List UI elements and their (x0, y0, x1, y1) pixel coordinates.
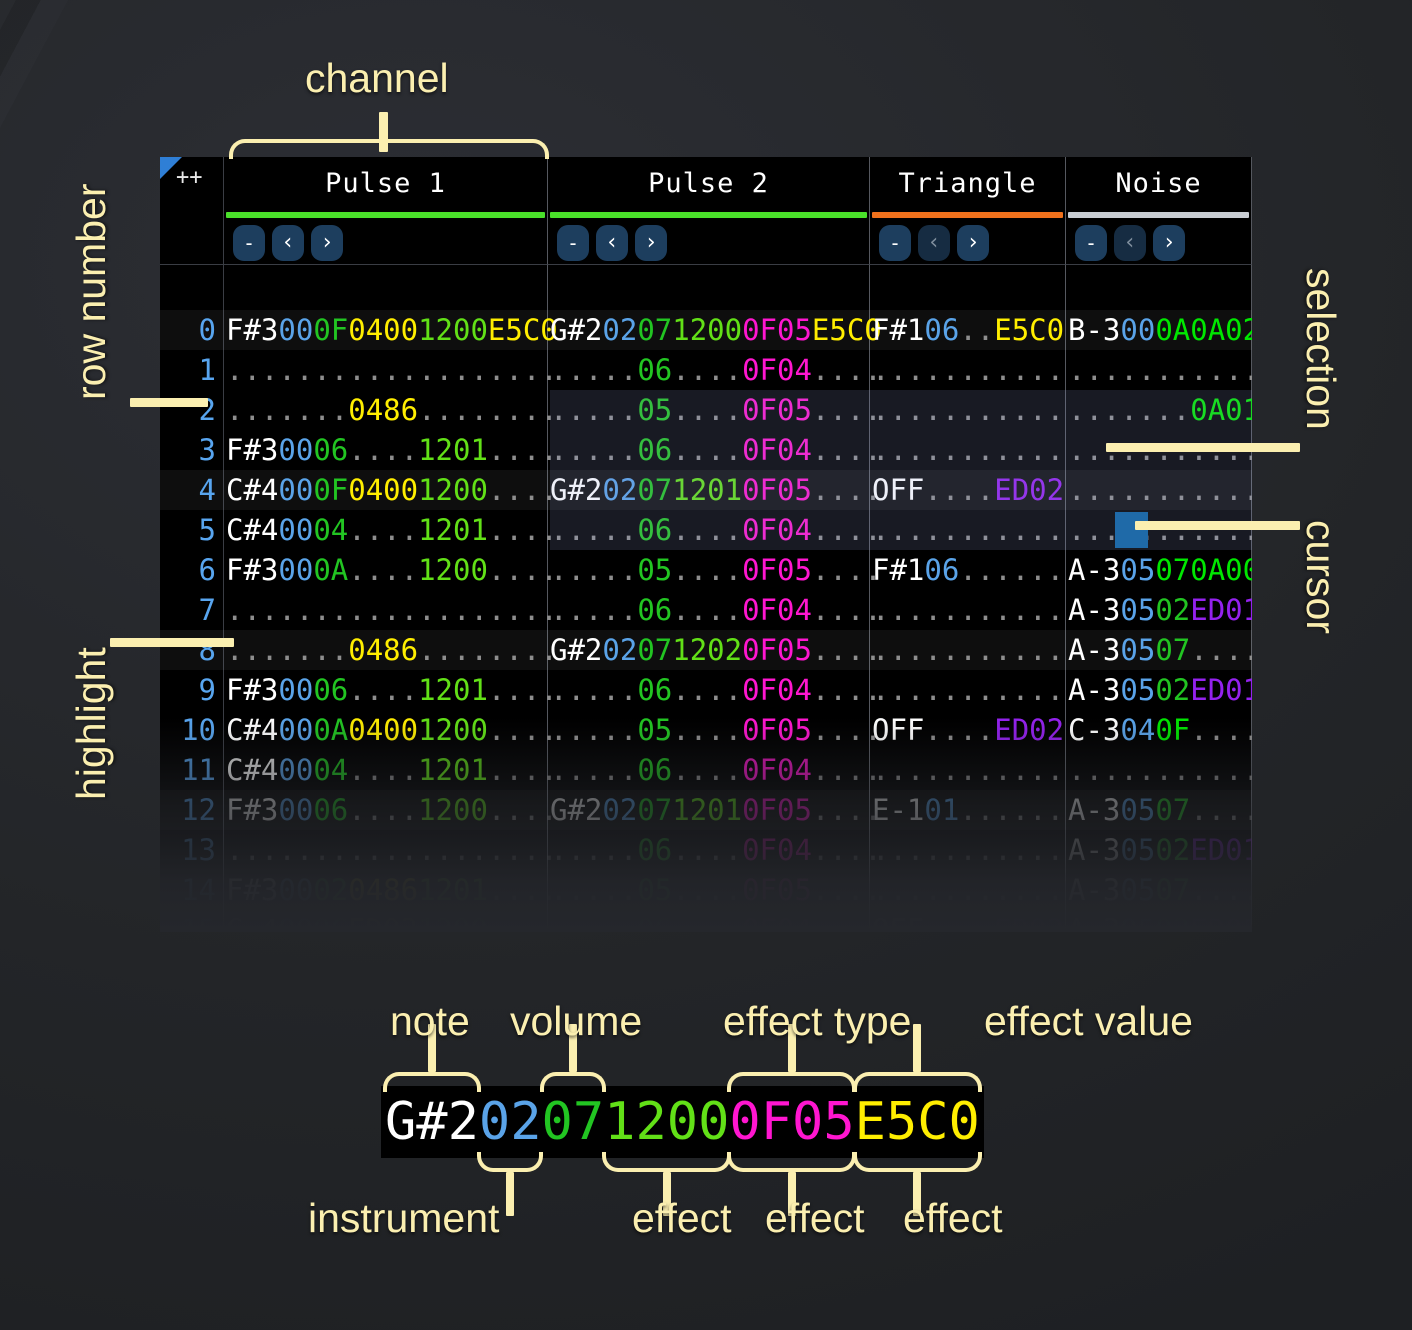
pattern-row[interactable]: 4C#4000F04001200....G#2020712010F05....O… (160, 470, 1252, 510)
pattern-token: ... (872, 353, 924, 387)
pattern-cell-noise[interactable]: A-30502ED01 (1068, 830, 1252, 870)
legend-brace-bottom (727, 1152, 856, 1172)
pattern-row[interactable]: 8.......0486........G#2020712020F05.....… (160, 630, 1252, 670)
pattern-token: .. (924, 913, 959, 932)
pattern-cell-noise[interactable]: ........... (1068, 510, 1252, 550)
pattern-cell-pulse2[interactable]: .....05....0F05.... (550, 390, 882, 430)
row-number: 6 (160, 550, 216, 590)
pattern-token: ... (226, 593, 278, 627)
pattern-cell-pulse2[interactable]: G#2020712010F05.... (550, 470, 882, 510)
pattern-row[interactable]: 3F#30006....1201.........06....0F04.....… (160, 430, 1252, 470)
annotation-channel: channel (305, 55, 449, 102)
pattern-cell-pulse1[interactable]: F#3000A....1200.... (226, 550, 558, 590)
pattern-token: .... (418, 833, 488, 867)
pattern-token: .. (602, 833, 637, 867)
pattern-token: .... (488, 513, 558, 547)
row-number: 15 (160, 910, 216, 932)
pattern-cell-triangle[interactable]: F#106...... (872, 550, 1064, 590)
pattern-token: 0400 (348, 713, 418, 747)
pattern-token: .. (1155, 353, 1190, 387)
row-number: 11 (160, 750, 216, 790)
pattern-cell-pulse1[interactable]: C#4000F04001200.... (226, 470, 558, 510)
pattern-cell-pulse1[interactable]: ................... (226, 830, 558, 870)
pattern-token: .. (959, 873, 994, 907)
pattern-token: 0486 (348, 393, 418, 427)
pattern-cell-pulse2[interactable]: G#2020712010F05.... (550, 790, 882, 830)
pattern-token: ... (1068, 353, 1120, 387)
annotation-highlight-stem (110, 638, 234, 647)
pattern-cell-triangle[interactable]: E-101...... (872, 790, 1064, 830)
pattern-row[interactable]: 15C-4000CED031200.........06....0F04....… (160, 910, 1252, 932)
pattern-token: 06 (637, 913, 672, 932)
header-corner[interactable]: ++ (160, 157, 224, 265)
pattern-cell-pulse1[interactable]: C#40004....1201.... (226, 510, 558, 550)
pattern-token: .... (348, 753, 418, 787)
pattern-cell-noise[interactable]: A-30507.... (1068, 630, 1252, 670)
pattern-cell-pulse2[interactable]: G#2020712000F05E5C0 (550, 310, 882, 350)
pattern-cell-triangle[interactable]: ........... (872, 630, 1064, 670)
pattern-token: .. (313, 833, 348, 867)
pattern-token: .... (1190, 793, 1252, 827)
pattern-token: 0F04 (742, 913, 812, 932)
pattern-token: 0C (313, 913, 348, 932)
pattern-cell-noise[interactable]: B-3000A0A02 (1068, 310, 1252, 350)
pattern-token: .. (924, 753, 959, 787)
pattern-cell-noise[interactable]: C-3040F.... (1068, 710, 1252, 750)
channel-triangle-prev-button[interactable]: ‹ (918, 225, 950, 261)
pattern-token: 1201 (672, 473, 742, 507)
pattern-token: A-3 (1068, 633, 1120, 667)
pattern-body[interactable]: 0F#3000F04001200E5C0G#2020712000F05E5C0F… (160, 265, 1252, 932)
pattern-cell-pulse2[interactable]: .....06....0F04.... (550, 350, 882, 390)
legend-effect-3: E5C0 (855, 1092, 980, 1152)
pattern-cell-noise[interactable]: .......0A01 (1068, 390, 1252, 430)
pattern-token: .... (994, 353, 1064, 387)
pattern-token: .... (348, 833, 418, 867)
pattern-token: .. (602, 593, 637, 627)
pattern-cell-triangle[interactable]: ........... (872, 430, 1064, 470)
pattern-cell-triangle[interactable]: ........... (872, 670, 1064, 710)
pattern-token: 0F (313, 473, 348, 507)
pattern-token: 0F05 (742, 793, 812, 827)
pattern-token: ... (550, 753, 602, 787)
pattern-token: 00 (278, 753, 313, 787)
channel-pulse-1-mute-button[interactable]: - (233, 225, 265, 261)
pattern-row[interactable]: 13........................06....0F04....… (160, 830, 1252, 870)
pattern-cell-pulse2[interactable]: .....06....0F04.... (550, 670, 882, 710)
pattern-cell-pulse2[interactable]: .....05....0F05.... (550, 550, 882, 590)
pattern-token: ... (872, 393, 924, 427)
pattern-token: 06 (637, 353, 672, 387)
pattern-token: .... (994, 673, 1064, 707)
pattern-token: .. (959, 353, 994, 387)
pattern-token: 07 (637, 633, 672, 667)
channel-noise-mute-button[interactable]: - (1075, 225, 1107, 261)
pattern-token: C#4 (226, 473, 278, 507)
pattern-token: .... (672, 833, 742, 867)
pattern-row[interactable]: 11C#40004....1201.........06....0F04....… (160, 750, 1252, 790)
pattern-token: 06 (637, 833, 672, 867)
pattern-token: 1200 (672, 313, 742, 347)
pattern-cell-pulse2[interactable]: .....06....0F04.... (550, 430, 882, 470)
legend-label-effect-2: effect (765, 1195, 865, 1242)
pattern-cell-pulse2[interactable]: .....06....0F04.... (550, 750, 882, 790)
channel-pulse-1-next-button[interactable]: › (311, 225, 343, 261)
pattern-row[interactable]: 12F#30006....1200....G#2020712010F05....… (160, 790, 1252, 830)
pattern-token: 1201 (418, 673, 488, 707)
legend-instrument: 02 (479, 1092, 542, 1152)
pattern-token: 07 (1155, 793, 1190, 827)
pattern-cell-noise[interactable]: A-305070A00 (1068, 550, 1252, 590)
pattern-token: 05 (637, 873, 672, 907)
pattern-cell-triangle[interactable]: OFF....ED02 (872, 470, 1064, 510)
row-number: 0 (160, 310, 216, 350)
pattern-token: A-3 (1068, 913, 1120, 932)
channel-header-pulse-2[interactable]: Pulse 2-‹› (548, 157, 870, 265)
pattern-cell-noise[interactable]: A-30502ED01 (1068, 910, 1252, 932)
pattern-token: 00 (278, 433, 313, 467)
pattern-token: .... (348, 553, 418, 587)
pattern-token: 06 (637, 673, 672, 707)
pattern-token: 02 (602, 633, 637, 667)
pattern-token: 0F04 (742, 753, 812, 787)
row-number: 14 (160, 870, 216, 910)
pattern-token: .. (924, 393, 959, 427)
channel-level-bar (550, 212, 867, 218)
pattern-token: 07 (1155, 553, 1190, 587)
pattern-token: 02 (313, 873, 348, 907)
channel-pulse-2-next-button[interactable]: › (635, 225, 667, 261)
pattern-token: .... (672, 873, 742, 907)
pattern-cell-noise[interactable]: ........... (1068, 470, 1252, 510)
legend-label-volume: volume (510, 998, 642, 1045)
pattern-token: 0F04 (742, 353, 812, 387)
pattern-cell-pulse1[interactable]: F#30006....1200.... (226, 790, 558, 830)
pattern-token: 02 (1155, 913, 1190, 932)
pattern-cell-triangle[interactable]: ........... (872, 830, 1064, 870)
pattern-token: ... (872, 633, 924, 667)
legend-stem-bottom (506, 1172, 514, 1216)
pattern-token: 1200 (418, 313, 488, 347)
pattern-token: 00 (278, 553, 313, 587)
pattern-token: .... (1190, 473, 1252, 507)
row-number: 5 (160, 510, 216, 550)
row-number: 1 (160, 350, 216, 390)
pattern-token: ... (872, 753, 924, 787)
pattern-token: 00 (278, 873, 313, 907)
pattern-token: .. (602, 873, 637, 907)
pattern-cell-pulse2[interactable]: G#2020712020F05.... (550, 630, 882, 670)
annotation-row-number: row number (68, 184, 115, 400)
pattern-token: .... (348, 353, 418, 387)
pattern-token: .... (488, 473, 558, 507)
pattern-token: F#3 (226, 873, 278, 907)
pattern-token: .. (602, 913, 637, 932)
pattern-token: OFF (872, 713, 924, 747)
channel-triangle-mute-button[interactable]: - (879, 225, 911, 261)
pattern-token: .. (1155, 753, 1190, 787)
pattern-token: .... (994, 393, 1064, 427)
pattern-token: 05 (1120, 673, 1155, 707)
pattern-cell-triangle[interactable]: OFF....ED02 (872, 710, 1064, 750)
pattern-token: 02 (1155, 673, 1190, 707)
pattern-cell-triangle[interactable]: ........... (872, 510, 1064, 550)
channel-name: Pulse 1 (224, 168, 547, 199)
pattern-token: .... (1190, 513, 1252, 547)
pattern-cell-triangle[interactable]: F#106..E5C0 (872, 310, 1064, 350)
channel-header-triangle[interactable]: Triangle-‹› (870, 157, 1066, 265)
pattern-token: 07 (637, 473, 672, 507)
channel-name: Triangle (870, 168, 1065, 199)
pattern-token: 05 (1120, 793, 1155, 827)
pattern-cell-pulse1[interactable]: .......0486........ (226, 390, 558, 430)
channel-noise-prev-button[interactable]: ‹ (1114, 225, 1146, 261)
pattern-token: 1200 (418, 553, 488, 587)
pattern-token: 06 (637, 593, 672, 627)
pattern-token: 1200 (418, 793, 488, 827)
pattern-token: G#2 (550, 793, 602, 827)
pattern-token: .. (924, 633, 959, 667)
pattern-token: .... (994, 593, 1064, 627)
pattern-token: .... (488, 673, 558, 707)
pattern-cell-pulse1[interactable]: .......0486........ (226, 630, 558, 670)
pattern-token: 06 (313, 793, 348, 827)
pattern-token: 02 (602, 473, 637, 507)
legend-note: G#2 (385, 1092, 479, 1152)
pattern-token: 00 (278, 713, 313, 747)
pattern-row[interactable]: 7........................06....0F04.....… (160, 590, 1252, 630)
pattern-token: ED01 (1190, 593, 1252, 627)
channel-header-pulse-1[interactable]: Pulse 1-‹› (224, 157, 548, 265)
pattern-token: .... (488, 873, 558, 907)
pattern-token: .... (418, 393, 488, 427)
pattern-cell-pulse1[interactable]: C#4000A04001200.... (226, 710, 558, 750)
pattern-token: .... (672, 593, 742, 627)
pattern-cell-noise[interactable]: A-30502ED01 (1068, 670, 1252, 710)
pattern-cell-triangle[interactable]: ........... (872, 350, 1064, 390)
pattern-token: 1201 (418, 433, 488, 467)
pattern-cell-noise[interactable]: ........... (1068, 350, 1252, 390)
pattern-token: .... (994, 833, 1064, 867)
pattern-token: 00 (278, 913, 313, 932)
pattern-token: .... (994, 633, 1064, 667)
pattern-token: .. (1120, 393, 1155, 427)
channel-pulse-2-mute-button[interactable]: - (557, 225, 589, 261)
pattern-token: 0F04 (742, 833, 812, 867)
legend-label-effect-1: effect (632, 1195, 732, 1242)
pattern-token: .... (348, 513, 418, 547)
pattern-token: ED02 (994, 713, 1064, 747)
pattern-token: 1201 (418, 873, 488, 907)
edit-cursor[interactable] (1115, 512, 1148, 548)
pattern-cell-pulse1[interactable]: ................... (226, 350, 558, 390)
pattern-token: 00 (278, 313, 313, 347)
pattern-token: .... (418, 593, 488, 627)
channel-noise-next-button[interactable]: › (1153, 225, 1185, 261)
channel-pulse-1-prev-button[interactable]: ‹ (272, 225, 304, 261)
pattern-cell-pulse1[interactable]: F#30006....1201.... (226, 430, 558, 470)
pattern-token: 05 (1120, 873, 1155, 907)
pattern-token: E5C0 (488, 313, 558, 347)
pattern-token: ... (872, 513, 924, 547)
pattern-token: .. (924, 593, 959, 627)
channel-header-noise[interactable]: Noise-‹› (1066, 157, 1252, 265)
pattern-token: .. (313, 633, 348, 667)
pattern-cell-noise[interactable]: A-30502ED01 (1068, 590, 1252, 630)
legend-brace-top (853, 1072, 982, 1092)
channel-pulse-2-prev-button[interactable]: ‹ (596, 225, 628, 261)
pattern-cell-triangle[interactable]: ........... (872, 590, 1064, 630)
channel-header-bar: ++ Pulse 1-‹›Pulse 2-‹›Triangle-‹›Noise-… (160, 157, 1252, 265)
pattern-token: .... (488, 833, 558, 867)
pattern-cell-pulse2[interactable]: .....06....0F04.... (550, 510, 882, 550)
pattern-token: .. (924, 473, 959, 507)
pattern-token: 00 (278, 473, 313, 507)
legend-label-effect-value: effect value (984, 998, 1193, 1045)
pattern-token: 1201 (672, 793, 742, 827)
pattern-token: 0F05 (742, 553, 812, 587)
row-number: 4 (160, 470, 216, 510)
pattern-token: ... (872, 593, 924, 627)
pattern-token: 0A (1155, 313, 1190, 347)
pattern-row[interactable]: 6F#3000A....1200.........05....0F05....F… (160, 550, 1252, 590)
pattern-token: .. (959, 713, 994, 747)
pattern-token: .. (959, 553, 994, 587)
pattern-token: ED01 (1190, 913, 1252, 932)
pattern-token: ... (550, 513, 602, 547)
pattern-token: F#3 (226, 793, 278, 827)
pattern-token: 06 (637, 433, 672, 467)
pattern-token: .. (278, 353, 313, 387)
pattern-token: .. (278, 833, 313, 867)
pattern-token: .. (278, 593, 313, 627)
pattern-token: 0F05 (742, 633, 812, 667)
pattern-token: 04 (313, 513, 348, 547)
pattern-token: .. (924, 873, 959, 907)
pattern-cell-noise[interactable]: A-30507.... (1068, 790, 1252, 830)
pattern-token: .... (994, 553, 1064, 587)
pattern-token: .. (924, 673, 959, 707)
pattern-token: ... (872, 873, 924, 907)
channel-button-group: -‹› (557, 225, 667, 261)
channel-level-bar (226, 212, 545, 218)
pattern-row[interactable]: 2.......0486.............05....0F05.....… (160, 390, 1252, 430)
channel-triangle-next-button[interactable]: › (957, 225, 989, 261)
legend-brace-top (727, 1072, 856, 1092)
pattern-token: .. (959, 753, 994, 787)
pattern-cell-triangle[interactable]: ........... (872, 870, 1064, 910)
legend-brace-bottom (853, 1152, 982, 1172)
pattern-token: ED01 (1190, 673, 1252, 707)
pattern-token: 05 (1120, 633, 1155, 667)
pattern-cell-pulse1[interactable]: C#40004....1201.... (226, 750, 558, 790)
pattern-token: 04 (1120, 713, 1155, 747)
pattern-token: 07 (1155, 633, 1190, 667)
pattern-cell-triangle[interactable]: ........... (872, 390, 1064, 430)
pattern-token: ED02 (994, 913, 1064, 932)
pattern-cell-pulse2[interactable]: .....06....0F04.... (550, 910, 882, 932)
pattern-token: A-3 (1068, 553, 1120, 587)
pattern-cell-noise[interactable]: A-30507.... (1068, 870, 1252, 910)
pattern-cell-pulse1[interactable]: F#3000F04001200E5C0 (226, 310, 558, 350)
legend-label-effect-type: effect type (723, 998, 911, 1045)
pattern-token: 0F04 (742, 673, 812, 707)
pattern-row[interactable]: 1........................06....0F04.....… (160, 350, 1252, 390)
pattern-token: .. (959, 593, 994, 627)
legend-volume: 07 (542, 1092, 605, 1152)
pattern-token: 05 (637, 393, 672, 427)
pattern-token: 02 (1155, 593, 1190, 627)
pattern-token: .... (348, 793, 418, 827)
pattern-cell-noise[interactable]: ........... (1068, 750, 1252, 790)
pattern-token: .. (959, 673, 994, 707)
pattern-token: A-3 (1068, 833, 1120, 867)
pattern-cell-pulse2[interactable]: .....06....0F04.... (550, 590, 882, 630)
pattern-token: 0A (313, 713, 348, 747)
pattern-token: 07 (637, 793, 672, 827)
pattern-row[interactable]: 5C#40004....1201.........06....0F04.....… (160, 510, 1252, 550)
pattern-token: ... (550, 593, 602, 627)
pattern-cell-pulse2[interactable]: .....05....0F05.... (550, 870, 882, 910)
legend-effect-2: 0F05 (729, 1092, 854, 1152)
pattern-token: ... (550, 673, 602, 707)
pattern-cell-pulse1[interactable]: ................... (226, 590, 558, 630)
pattern-token: A-3 (1068, 593, 1120, 627)
pattern-token: C-3 (1068, 713, 1120, 747)
pattern-token: .. (959, 633, 994, 667)
pattern-token: 06 (924, 313, 959, 347)
pattern-row[interactable]: 9F#30006....1201.........06....0F04.....… (160, 670, 1252, 710)
pattern-cell-pulse2[interactable]: .....05....0F05.... (550, 710, 882, 750)
pattern-cell-pulse1[interactable]: C-4000CED031200.... (226, 910, 558, 932)
pattern-token: 0486 (348, 873, 418, 907)
pattern-cell-pulse1[interactable]: F#3000204861201.... (226, 870, 558, 910)
pattern-token: .... (672, 393, 742, 427)
pattern-token: .. (602, 393, 637, 427)
pattern-editor[interactable]: ++ Pulse 1-‹›Pulse 2-‹›Triangle-‹›Noise-… (160, 157, 1252, 932)
channel-name: Noise (1066, 168, 1251, 199)
pattern-token: .. (924, 833, 959, 867)
pattern-row[interactable]: 10C#4000A04001200.........05....0F05....… (160, 710, 1252, 750)
pattern-token: 00 (278, 513, 313, 547)
pattern-cell-pulse2[interactable]: .....06....0F04.... (550, 830, 882, 870)
pattern-token: .. (959, 433, 994, 467)
pattern-row[interactable]: 0F#3000F04001200E5C0G#2020712000F05E5C0F… (160, 310, 1252, 350)
pattern-cell-triangle[interactable]: OFF....ED02 (872, 910, 1064, 932)
pattern-token: .. (602, 753, 637, 787)
pattern-cell-pulse1[interactable]: F#30006....1201.... (226, 670, 558, 710)
pattern-token: .... (994, 513, 1064, 547)
pattern-token: 02 (602, 793, 637, 827)
pattern-token: 0A02 (1190, 313, 1252, 347)
row-number: 10 (160, 710, 216, 750)
pattern-token: 1200 (418, 473, 488, 507)
pattern-token: .... (488, 713, 558, 747)
pattern-token: ... (550, 353, 602, 387)
pattern-token: C#4 (226, 753, 278, 787)
pattern-token: 0F04 (742, 513, 812, 547)
pattern-token: .. (924, 513, 959, 547)
pattern-token: .... (1190, 873, 1252, 907)
pattern-token: .... (488, 393, 558, 427)
pattern-token: F#1 (872, 553, 924, 587)
pattern-token: .... (1190, 753, 1252, 787)
pattern-token: 05 (637, 713, 672, 747)
pattern-row[interactable]: 14F#3000204861201.........05....0F05....… (160, 870, 1252, 910)
pattern-token: 06 (637, 753, 672, 787)
pattern-cell-triangle[interactable]: ........... (872, 750, 1064, 790)
pattern-token: 0A01 (1190, 393, 1252, 427)
